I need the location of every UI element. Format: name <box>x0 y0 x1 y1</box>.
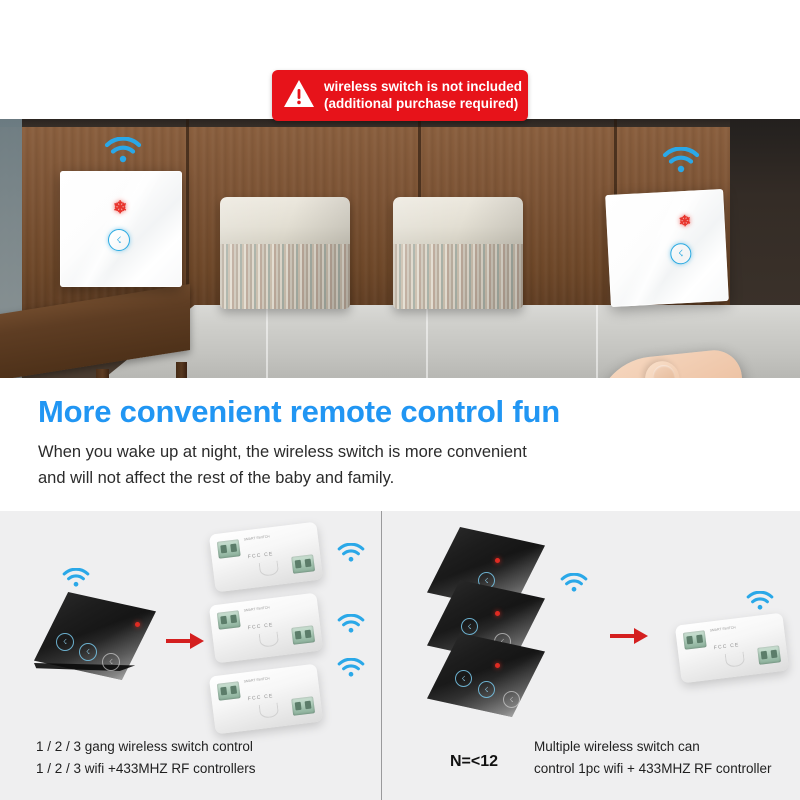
relay-model-label: SMART SWITCH <box>243 676 269 684</box>
led-indicator <box>495 663 500 668</box>
relay-cert-label: FCC CE <box>248 622 274 631</box>
flower-led-indicator: ❄ <box>113 199 127 216</box>
led-indicator <box>495 558 500 563</box>
page-title: More convenient remote control fun <box>38 394 560 430</box>
pillow <box>220 197 350 309</box>
hero-body-line-1: When you wake up at night, the wireless … <box>38 440 527 466</box>
section-divider <box>381 511 382 800</box>
led-indicator <box>135 622 140 627</box>
product-marketing-image: ❄ ☇ ❄ ☇ <box>0 0 800 800</box>
headboard-seam <box>186 119 189 311</box>
wifi-rf-relay-module[interactable]: SMART SWITCH FCC CE <box>675 613 789 684</box>
wifi-icon <box>337 543 365 563</box>
relay-cert-label: FCC CE <box>248 551 274 560</box>
right-caption-line-1: Multiple wireless switch can <box>534 736 771 758</box>
nightstand-leg <box>176 362 187 378</box>
touch-button-icon[interactable]: ☇ <box>670 243 692 265</box>
touch-button-1-icon[interactable]: ☇ <box>455 670 472 687</box>
nightstand-leg <box>96 369 109 378</box>
relay-graphic <box>259 632 280 648</box>
touch-button-3-icon[interactable]: ☇ <box>503 691 520 708</box>
touch-button-2-icon[interactable]: ☇ <box>478 681 495 698</box>
handheld-white-touch-switch[interactable]: ❄ ☇ <box>605 189 729 307</box>
red-arrow-right-icon <box>610 625 650 652</box>
hero-text-section: More convenient remote control fun When … <box>0 378 800 511</box>
warning-triangle-icon <box>283 79 315 113</box>
quantity-label: N=<12 <box>450 753 498 771</box>
relay-graphic <box>259 703 280 719</box>
relay-cert-label: FCC CE <box>248 693 274 702</box>
relay-terminal <box>291 625 315 645</box>
relay-model-label: SMART SWITCH <box>709 625 735 633</box>
wifi-icon <box>746 591 774 611</box>
wall-mounted-white-touch-switch[interactable]: ❄ ☇ <box>60 171 182 287</box>
led-indicator <box>495 611 500 616</box>
hero-body-line-2: and will not affect the rest of the baby… <box>38 466 527 492</box>
touch-button-2-icon[interactable]: ☇ <box>79 643 97 661</box>
wifi-icon <box>62 568 90 588</box>
warning-line-1: wireless switch is not included <box>324 79 522 95</box>
wifi-rf-relay-module[interactable]: SMART SWITCH FCC CE <box>209 522 323 593</box>
relay-terminal <box>683 630 707 650</box>
hero-body-text: When you wake up at night, the wireless … <box>38 440 527 491</box>
touch-button-1-icon[interactable]: ☇ <box>56 633 74 651</box>
relay-terminal <box>217 610 241 630</box>
wifi-icon <box>337 658 365 678</box>
pillow <box>393 197 523 309</box>
warning-banner: wireless switch is not included (additio… <box>272 70 528 121</box>
right-caption-line-2: control 1pc wifi + 433MHZ RF controller <box>534 758 771 780</box>
red-arrow-right-icon <box>166 630 206 657</box>
touch-button-icon[interactable]: ☇ <box>108 229 130 251</box>
right-diagram-caption: Multiple wireless switch can control 1pc… <box>534 736 771 780</box>
wifi-rf-relay-module[interactable]: SMART SWITCH FCC CE <box>209 664 323 735</box>
left-caption-line-1: 1 / 2 / 3 gang wireless switch control <box>36 736 255 758</box>
wifi-icon <box>337 614 365 634</box>
wifi-rf-relay-module[interactable]: SMART SWITCH FCC CE <box>209 593 323 664</box>
relay-terminal <box>291 554 315 574</box>
relay-terminal <box>757 645 781 665</box>
touch-button-3-icon[interactable]: ☇ <box>102 653 120 671</box>
relay-graphic <box>725 652 746 668</box>
flower-led-indicator: ❄ <box>678 214 691 230</box>
wifi-icon <box>560 573 588 593</box>
touch-button-1-icon[interactable]: ☇ <box>461 618 478 635</box>
left-caption-line-2: 1 / 2 / 3 wifi +433MHZ RF controllers <box>36 758 255 780</box>
relay-terminal <box>291 696 315 716</box>
relay-cert-label: FCC CE <box>714 642 740 651</box>
bedroom-photo-scene: ❄ ☇ ❄ ☇ <box>0 119 800 378</box>
relay-model-label: SMART SWITCH <box>243 534 269 542</box>
relay-terminal <box>217 681 241 701</box>
left-diagram-caption: 1 / 2 / 3 gang wireless switch control 1… <box>36 736 255 780</box>
wifi-icon <box>662 147 700 174</box>
warning-text: wireless switch is not included (additio… <box>324 79 522 113</box>
relay-terminal <box>217 539 241 559</box>
relay-model-label: SMART SWITCH <box>243 605 269 613</box>
wifi-icon <box>104 137 142 164</box>
warning-line-2: (additional purchase required) <box>324 96 522 112</box>
glass-reflection <box>605 189 729 307</box>
relay-graphic <box>259 561 280 577</box>
